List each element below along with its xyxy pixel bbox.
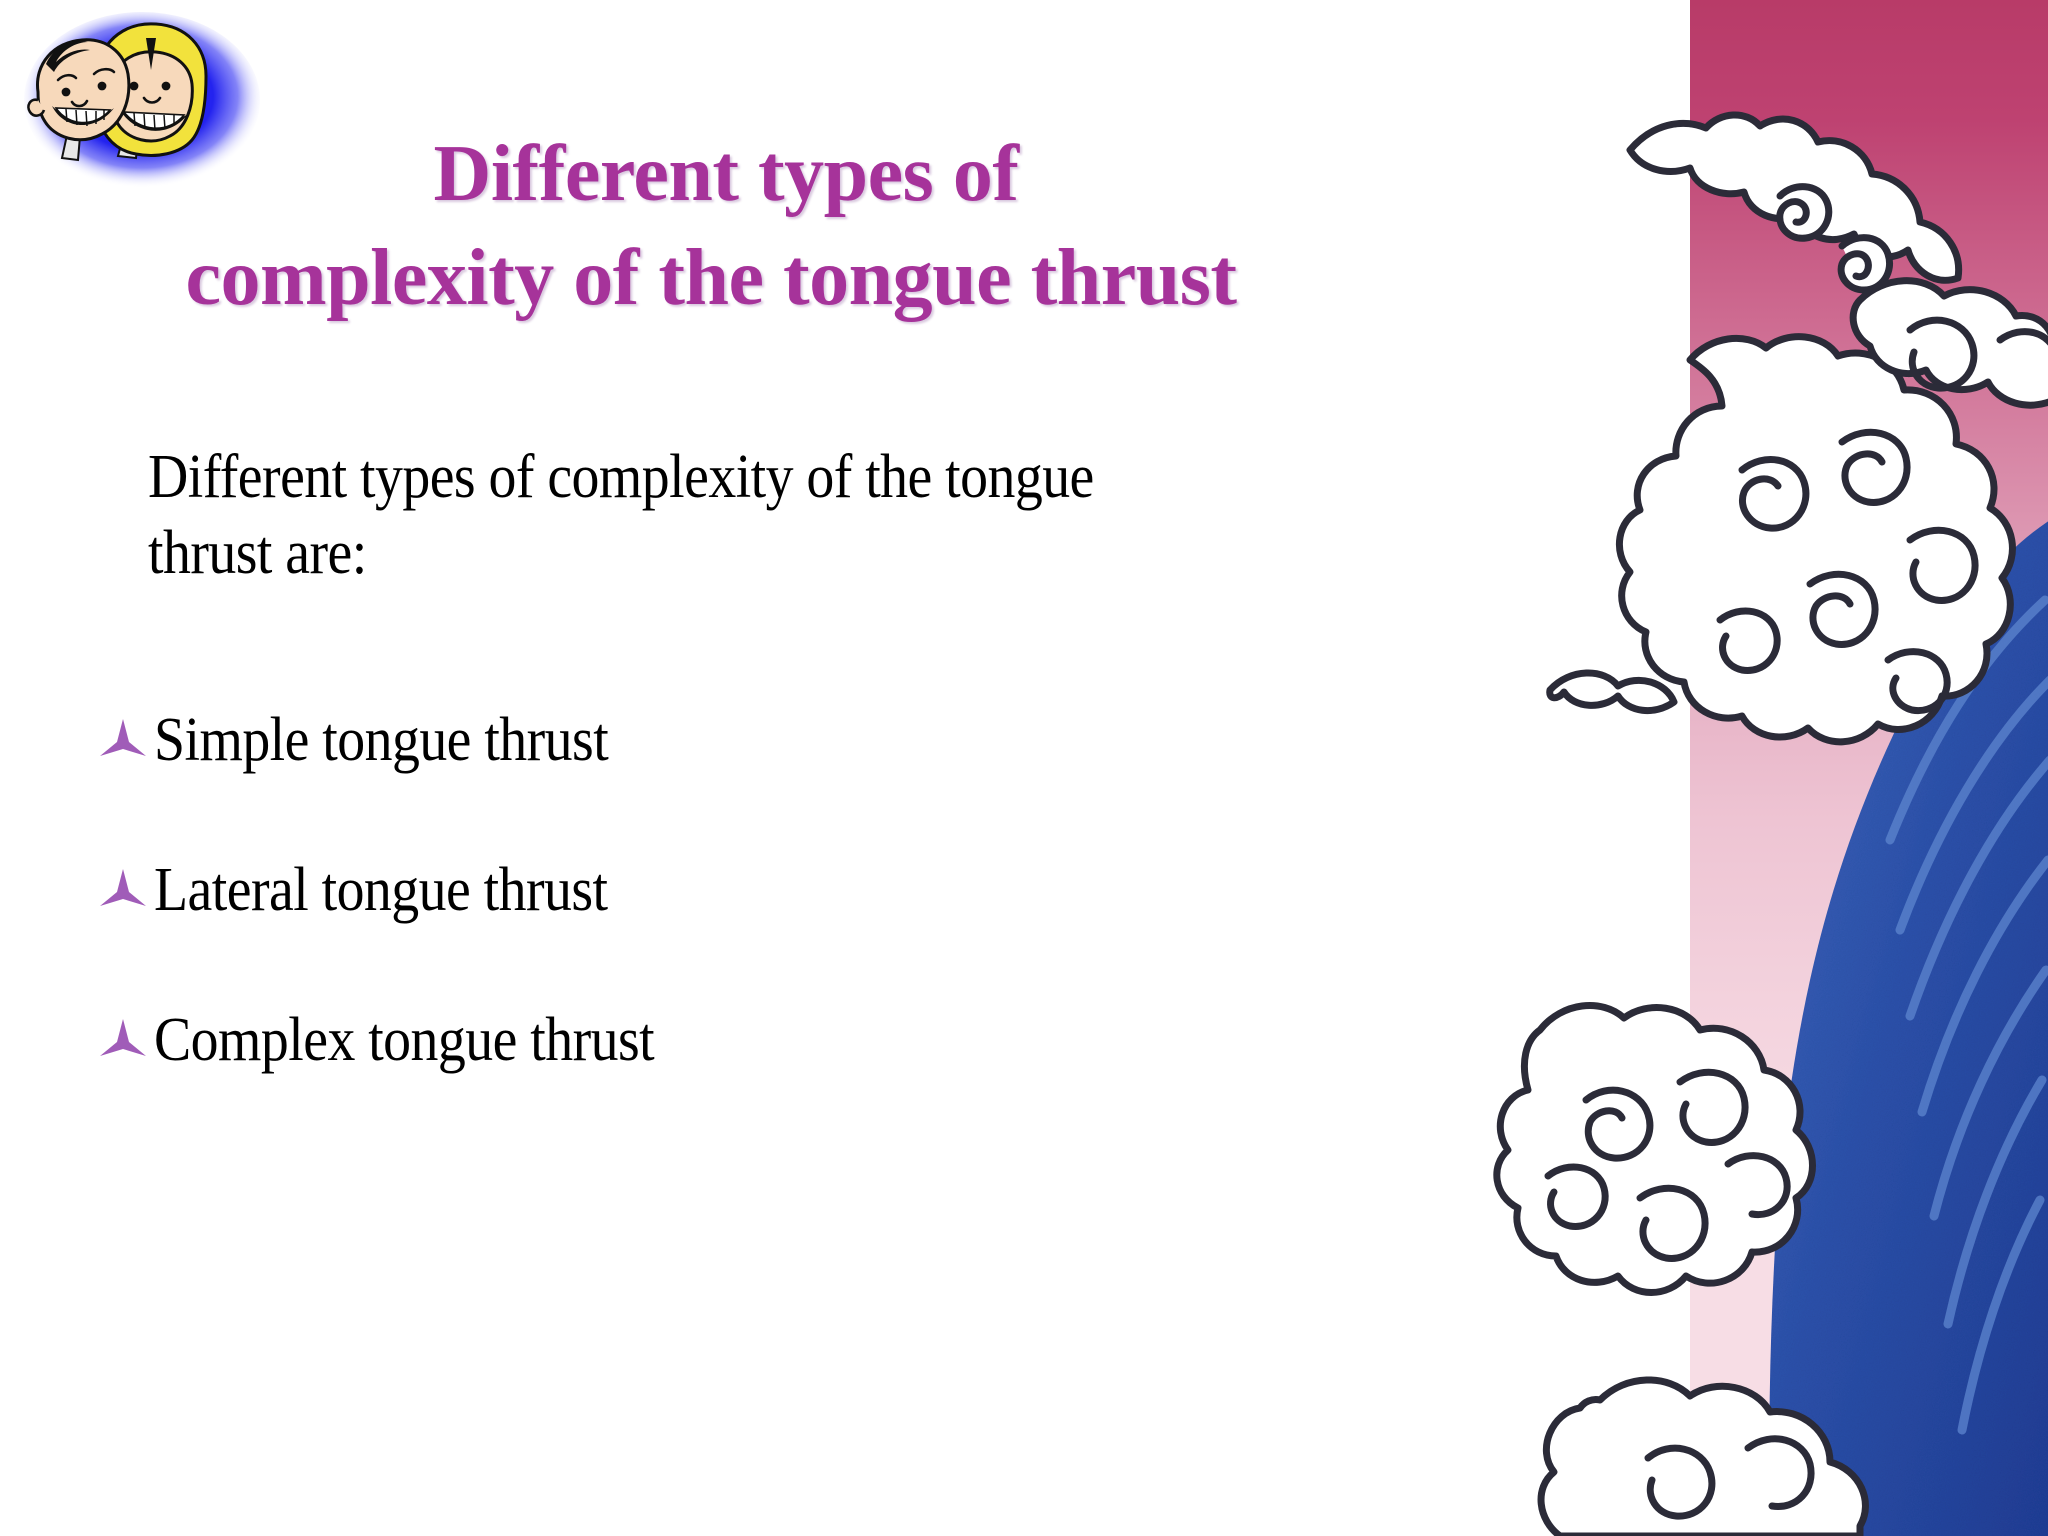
presentation-slide: Different types of complexity of the ton… bbox=[0, 0, 2048, 1536]
list-item: Lateral tongue thrust bbox=[96, 859, 1346, 921]
bullet-label: Complex tongue thrust bbox=[154, 1009, 654, 1071]
slide-title-line-1: Different types of bbox=[96, 122, 1326, 226]
slide-title-line-2: complexity of the tongue thrust bbox=[96, 226, 1326, 330]
bullet-list: Simple tongue thrust Lateral tongue thru… bbox=[96, 709, 1346, 1071]
decorative-wave-panel bbox=[1690, 0, 2048, 1536]
tristar-bullet-icon bbox=[96, 863, 150, 917]
bullet-label: Simple tongue thrust bbox=[154, 709, 608, 771]
list-item: Simple tongue thrust bbox=[96, 709, 1346, 771]
tristar-bullet-icon bbox=[96, 1013, 150, 1067]
bullet-label: Lateral tongue thrust bbox=[154, 859, 608, 921]
slide-title: Different types of complexity of the ton… bbox=[96, 122, 1326, 330]
tristar-bullet-icon bbox=[96, 713, 150, 767]
lead-paragraph: Different types of complexity of the ton… bbox=[148, 440, 1226, 591]
list-item: Complex tongue thrust bbox=[96, 1009, 1346, 1071]
hokusai-great-wave-graphic bbox=[1390, 0, 2048, 1536]
slide-body: Different types of complexity of the ton… bbox=[96, 440, 1346, 1159]
